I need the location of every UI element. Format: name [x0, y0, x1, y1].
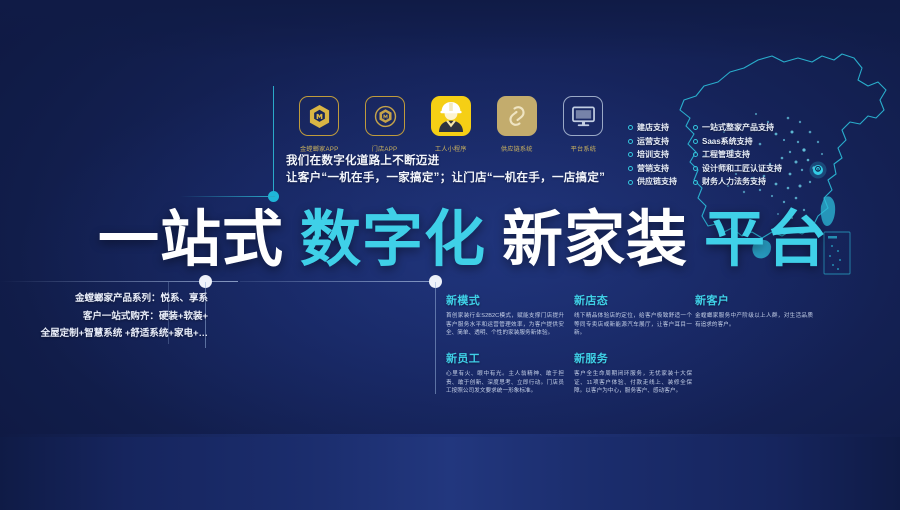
background-bottom-band — [0, 437, 900, 510]
hexagon-cube-circle-logo-icon — [374, 104, 397, 129]
card-title: 新客户 — [695, 292, 813, 308]
card-new-mode: 新模式 首创家装行业S2B2C模式，赋能支撑门店提升客户服务水平和运营管理效率，… — [446, 292, 564, 338]
support-lists: 建店支持 运营支持 培训支持 营销支持 供应链支持 一站式整家产品支持 Saas… — [628, 121, 782, 189]
support-label: 运营支持 — [637, 135, 669, 149]
app-icon-tile-1[interactable] — [299, 96, 339, 136]
support-label: 建店支持 — [637, 121, 669, 135]
bullet-icon — [628, 180, 633, 185]
bullet-icon — [693, 152, 698, 157]
support-item: 一站式整家产品支持 — [693, 121, 782, 135]
support-item: 供应链支持 — [628, 175, 677, 189]
product-line-3: 全屋定制+智慧系统 +舒适系统+家电+… — [18, 325, 208, 343]
app-label-1: 金螳螂家APP — [300, 143, 338, 153]
support-label: 营销支持 — [637, 162, 669, 176]
slogan-line-1: 我们在数字化道路上不断迈进 — [286, 153, 605, 170]
card-new-staff: 新员工 心里有火、眼中有光。主人翁精神、敢于担责、敢于创新、深度思考、立即行动。… — [446, 350, 564, 396]
product-line-2: 客户一站式购齐：硬装+软装+ — [18, 308, 208, 326]
app-label-3: 工人小程序 — [435, 143, 467, 153]
bullet-icon — [693, 166, 698, 171]
support-label: 一站式整家产品支持 — [702, 121, 774, 135]
support-item: 营销支持 — [628, 162, 677, 176]
worker-helmet-icon — [436, 100, 466, 132]
app-item-platform[interactable]: 平台系统 — [560, 96, 606, 153]
card-new-customer: 新客户 金螳螂家服务中产阶级以上人群，对生活品质有追求的客户。 — [695, 292, 813, 329]
card-new-service: 新服务 客户全生命周期闭环服务，无忧家装十大保证、11项客户体验、付款走线上、装… — [574, 350, 692, 396]
card-body: 金螳螂家服务中产阶级以上人群，对生活品质有追求的客户。 — [695, 312, 813, 329]
app-label-5: 平台系统 — [570, 143, 595, 153]
support-label: 设计师和工匠认证支持 — [702, 162, 782, 176]
monitor-icon — [571, 105, 596, 128]
card-body: 心里有火、眼中有光。主人翁精神、敢于担责、敢于创新、深度思考、立即行动。门店员工… — [446, 370, 564, 396]
card-new-store: 新店态 线下精品体验店的定位，给客户极致舒适一个等同专卖店或新能源汽车展厅，让客… — [574, 292, 692, 338]
support-label: 工程管理支持 — [702, 148, 750, 162]
support-label: 财务人力法务支持 — [702, 175, 766, 189]
headline-part-1: 一站式 — [98, 205, 284, 273]
app-item-worker[interactable]: 工人小程序 — [428, 96, 474, 153]
support-item: 财务人力法务支持 — [693, 175, 782, 189]
support-item: 设计师和工匠认证支持 — [693, 162, 782, 176]
headline-part-2: 数字化 — [300, 205, 486, 273]
headline-part-3: 新家装 — [502, 205, 688, 273]
bullet-icon — [628, 139, 633, 144]
support-item: 建店支持 — [628, 121, 677, 135]
support-label: 培训支持 — [637, 148, 669, 162]
card-title: 新模式 — [446, 292, 564, 308]
support-label: 供应链支持 — [637, 175, 677, 189]
app-label-4: 供应链系统 — [501, 143, 533, 153]
connector-line-horizontal-left — [180, 196, 275, 197]
hexagon-cube-logo-icon — [308, 104, 331, 129]
bullet-icon — [628, 125, 633, 130]
headline-part-4: 平台 — [704, 205, 828, 273]
chain-links-icon — [504, 103, 530, 129]
card-body: 首创家装行业S2B2C模式，赋能支撑门店提升客户服务水平和运营管理效率，为客户提… — [446, 312, 564, 338]
app-icon-tile-4[interactable] — [497, 96, 537, 136]
app-item-mendian[interactable]: 门店APP — [362, 96, 408, 153]
slogan-line-2: 让客户“一机在手，一家搞定”；让门店“一机在手，一店搞定” — [286, 170, 605, 187]
support-item: 运营支持 — [628, 135, 677, 149]
divider-line-center — [240, 281, 440, 282]
card-body: 客户全生命周期闭环服务，无忧家装十大保证、11项客户体验、付款走线上、装修全保障… — [574, 370, 692, 396]
card-title: 新员工 — [446, 350, 564, 366]
app-icon-tile-3[interactable] — [431, 96, 471, 136]
product-series-block: 金螳螂家产品系列：悦系、享系 客户一站式购齐：硬装+软装+ 全屋定制+智慧系统 … — [18, 290, 208, 343]
card-title: 新店态 — [574, 292, 692, 308]
support-label: Saas系统支持 — [702, 135, 753, 149]
app-icon-tile-5[interactable] — [563, 96, 603, 136]
support-list-right: 一站式整家产品支持 Saas系统支持 工程管理支持 设计师和工匠认证支持 财务人… — [693, 121, 782, 189]
product-line-1: 金螳螂家产品系列：悦系、享系 — [18, 290, 208, 308]
support-item: Saas系统支持 — [693, 135, 782, 149]
bullet-icon — [693, 139, 698, 144]
app-icon-tile-2[interactable] — [365, 96, 405, 136]
map-location-marker — [810, 162, 827, 179]
app-label-2: 门店APP — [372, 143, 398, 153]
bullet-icon — [693, 180, 698, 185]
app-item-jintanglangjia[interactable]: 金螳螂家APP — [296, 96, 342, 153]
card-body: 线下精品体验店的定位，给客户极致舒适一个等同专卖店或新能源汽车展厅，让客户耳目一… — [574, 312, 692, 338]
divider-vertical-center — [435, 282, 436, 394]
connector-line-vertical-left — [273, 86, 274, 196]
app-item-supplychain[interactable]: 供应链系统 — [494, 96, 540, 153]
card-title: 新服务 — [574, 350, 692, 366]
app-icon-row: 金螳螂家APP 门店APP 工人小程序 — [296, 96, 606, 153]
support-list-left: 建店支持 运营支持 培训支持 营销支持 供应链支持 — [628, 121, 677, 189]
bullet-icon — [628, 166, 633, 171]
bullet-icon — [693, 125, 698, 130]
bullet-icon — [628, 152, 633, 157]
support-item: 培训支持 — [628, 148, 677, 162]
slogan-block: 我们在数字化道路上不断迈进 让客户“一机在手，一家搞定”；让门店“一机在手，一店… — [286, 153, 605, 187]
page-title: 一站式数字化新家装平台 — [98, 206, 828, 272]
support-item: 工程管理支持 — [693, 148, 782, 162]
